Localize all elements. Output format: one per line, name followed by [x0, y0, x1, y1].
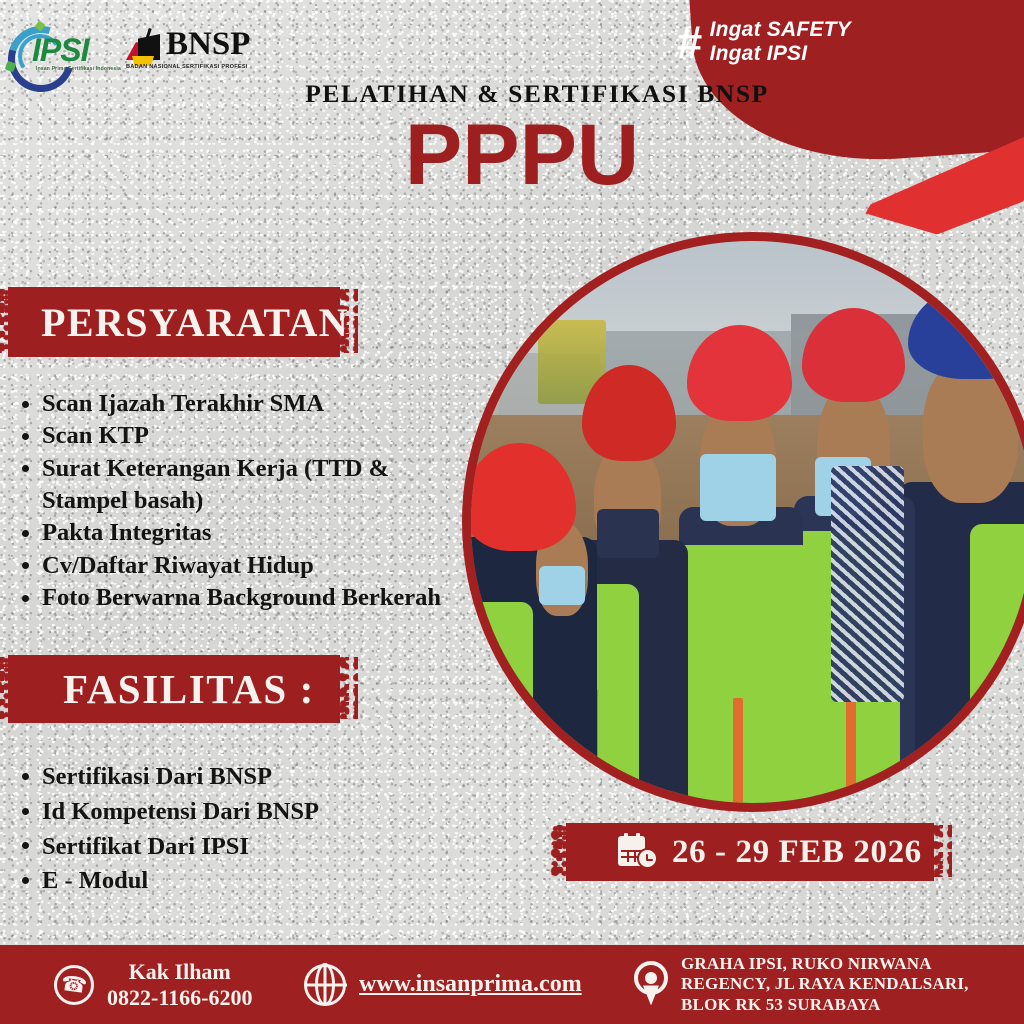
footer-contact[interactable]: ☎ Kak Ilham 0822-1166-6200	[14, 959, 304, 1010]
page-title: PPPU	[0, 112, 1024, 198]
footer-contact-name: Kak Ilham	[129, 959, 231, 984]
logo-group: IPSI Insan Prima Sertifikasi Indonesia B…	[6, 22, 254, 80]
facilities-heading-label: FASILITAS :	[8, 665, 315, 713]
ipsi-logo-text: IPSI	[32, 32, 88, 69]
training-photo	[462, 232, 1024, 812]
footer-website-url[interactable]: www.insanprima.com	[359, 971, 582, 998]
page-kicker: PELATIHAN & SERTIFIKASI BNSP	[0, 79, 1024, 109]
list-item: Scan KTP	[12, 420, 472, 452]
requirements-list: Scan Ijazah Terakhir SMA Scan KTP Surat …	[12, 388, 472, 614]
hashtag-line-2: Ingat IPSI	[710, 42, 808, 65]
bnsp-logo: BNSP BADAN NASIONAL SERTIFIKASI PROFESI	[124, 22, 254, 80]
footer-contact-text: Kak Ilham 0822-1166-6200	[107, 959, 252, 1010]
bnsp-emblem-icon	[124, 28, 162, 66]
list-item: Sertifikasi Dari BNSP	[12, 760, 432, 795]
ipsi-logo-tagline: Insan Prima Sertifikasi Indonesia	[36, 66, 121, 72]
hash-icon: #	[676, 19, 700, 65]
map-pin-icon	[634, 961, 668, 1007]
requirements-heading-banner: PERSYARATAN	[8, 287, 340, 357]
footer-address: GRAHA IPSI, RUKO NIRWANA REGENCY, JL RAY…	[634, 954, 1010, 1015]
list-item: Pakta Integritas	[12, 517, 472, 549]
photo-worker-foreground	[471, 443, 606, 803]
list-item: Id Kompetensi Dari BNSP	[12, 795, 432, 830]
footer-address-line-1: GRAHA IPSI, RUKO NIRWANA	[681, 954, 932, 973]
date-badge: 26 - 29 FEB 2026	[566, 823, 934, 881]
bnsp-logo-tagline: BADAN NASIONAL SERTIFIKASI PROFESI	[126, 64, 248, 70]
footer-website[interactable]: www.insanprima.com	[304, 964, 634, 1006]
photo-scene	[471, 241, 1024, 803]
photo-scarf	[831, 466, 904, 702]
footer-address-text: GRAHA IPSI, RUKO NIRWANA REGENCY, JL RAY…	[681, 954, 969, 1015]
date-badge-label: 26 - 29 FEB 2026	[672, 834, 922, 871]
footer-bar: ☎ Kak Ilham 0822-1166-6200 www.insanprim…	[0, 945, 1024, 1024]
hashtag-block: # Ingat SAFETY Ingat IPSI	[676, 18, 851, 65]
phone-icon: ☎	[54, 965, 94, 1005]
globe-icon	[304, 964, 346, 1006]
facilities-list: Sertifikasi Dari BNSP Id Kompetensi Dari…	[12, 760, 432, 899]
list-item: Scan Ijazah Terakhir SMA	[12, 388, 472, 420]
poster-root: # Ingat SAFETY Ingat IPSI IPSI Insan Pri…	[0, 0, 1024, 1024]
list-item: Surat Keterangan Kerja (TTD & Stampel ba…	[12, 453, 472, 518]
ipsi-logo: IPSI Insan Prima Sertifikasi Indonesia	[6, 22, 110, 80]
list-item: Foto Berwarna Background Berkerah	[12, 582, 472, 614]
requirements-heading-label: PERSYARATAN	[8, 299, 349, 346]
list-item: E - Modul	[12, 864, 432, 899]
footer-contact-phone: 0822-1166-6200	[107, 985, 252, 1010]
facilities-heading-banner: FASILITAS :	[8, 655, 340, 723]
bnsp-logo-text: BNSP	[166, 26, 250, 63]
hashtag-line-1: Ingat SAFETY	[710, 18, 851, 41]
list-item: Cv/Daftar Riwayat Hidup	[12, 550, 472, 582]
list-item: Sertifikat Dari IPSI	[12, 830, 432, 865]
footer-address-line-3: BLOK RK 53 SURABAYA	[681, 995, 881, 1014]
calendar-clock-icon	[618, 835, 658, 869]
footer-address-line-2: REGENCY, JL RAYA KENDALSARI,	[681, 974, 969, 993]
hashtag-lines: Ingat SAFETY Ingat IPSI	[710, 18, 851, 65]
